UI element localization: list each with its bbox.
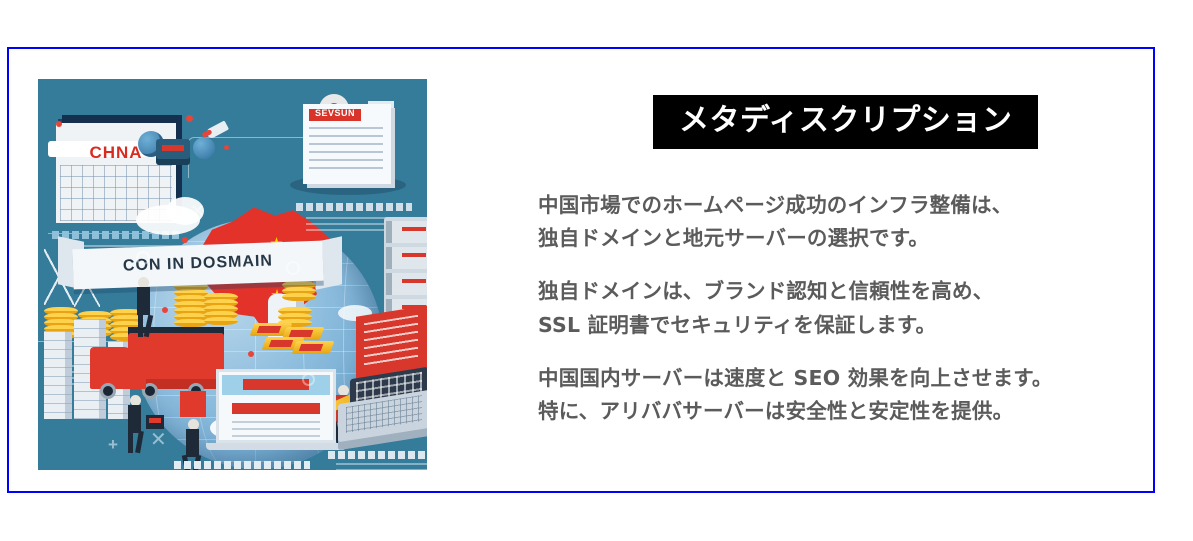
ring-decoration	[302, 373, 315, 386]
bordered-content-frame: CHNA	[7, 47, 1155, 493]
person-leg	[135, 431, 144, 454]
briefcase-label	[149, 418, 161, 423]
carried-box	[180, 391, 206, 417]
meta-description-paragraph: 独自ドメインは、ブランド認知と信頼性を高め、 SSL 証明書でセキュリティを保証…	[538, 275, 1133, 341]
caption-block	[336, 463, 427, 470]
coin	[204, 317, 238, 325]
person-leg	[138, 315, 143, 337]
code-monitor-lines	[364, 315, 418, 368]
caption-line	[328, 451, 427, 459]
server-rack-unit	[386, 247, 427, 269]
person-body	[137, 287, 150, 315]
plus-decoration: +	[108, 435, 118, 455]
coin	[174, 319, 208, 327]
server-rack-unit	[386, 273, 427, 295]
accent-dot	[56, 121, 62, 127]
laptop-page-text	[232, 421, 320, 437]
gold-bar	[294, 341, 332, 354]
server-unit-icon	[156, 139, 190, 165]
meta-description-paragraph: 中国国内サーバーは速度と SEO 効果を向上させます。 特に、アリババサーバーは…	[538, 362, 1133, 428]
document-text-lines	[309, 127, 383, 175]
city-tower	[44, 331, 72, 419]
meta-description-text-column: メタディスクリプション 中国市場でのホームページ成功のインフラ整備は、 独自ドメ…	[523, 95, 1133, 428]
person-leg	[128, 431, 133, 453]
ring-decoration	[136, 251, 150, 265]
laptop-base	[206, 443, 346, 450]
server-unit-indicator	[162, 145, 184, 151]
meta-description-heading: メタディスクリプション	[653, 95, 1038, 149]
truck-wheel	[100, 383, 116, 399]
small-globe-icon	[193, 137, 215, 159]
accent-dot	[162, 307, 168, 313]
person-body	[128, 405, 141, 433]
ring-decoration	[286, 261, 300, 275]
laptop-page-button	[232, 403, 320, 414]
person-body	[186, 429, 199, 457]
china-infrastructure-illustration: CHNA	[38, 79, 427, 470]
accent-dot	[182, 237, 188, 243]
illustration-container: CHNA	[38, 79, 427, 470]
accent-dot	[248, 351, 254, 357]
accent-dot	[186, 115, 193, 122]
cross-decoration: ✕	[190, 201, 205, 222]
accent-dot	[224, 145, 229, 150]
coin-stack	[174, 285, 208, 327]
meta-description-paragraph: 中国市場でのホームページ成功のインフラ整備は、 独自ドメインと地元サーバーの選択…	[538, 189, 1133, 255]
server-rack-unit	[386, 221, 427, 243]
cross-decoration: ✕	[150, 427, 167, 452]
carried-box	[124, 367, 146, 389]
caption-line	[296, 203, 412, 211]
coin	[282, 293, 316, 301]
document-title-label: SEVSUN	[309, 108, 361, 118]
laptop-page-banner	[243, 379, 309, 390]
caption-line	[174, 461, 310, 469]
coin-stack	[204, 295, 238, 325]
